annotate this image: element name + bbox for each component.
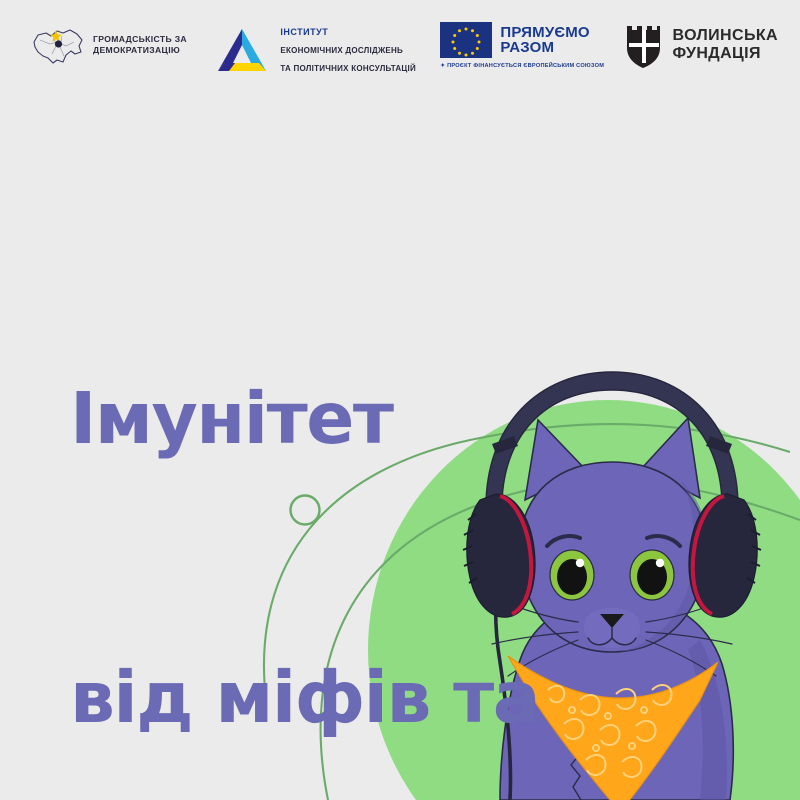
poster-canvas: ГРОМАДСЬКІСТЬ ЗА ДЕМОКРАТИЗАЦІЮ ІНСТИТУТ…: [0, 0, 800, 800]
cat-eye-highlight-right: [656, 559, 664, 567]
headline-line-1: Імунітет: [70, 372, 539, 465]
cat-eye-highlight-left: [576, 559, 584, 567]
headline-line-2: від міфів та: [70, 651, 539, 744]
poster-headline: Імунітет від міфів та Covid-19: [70, 186, 539, 800]
